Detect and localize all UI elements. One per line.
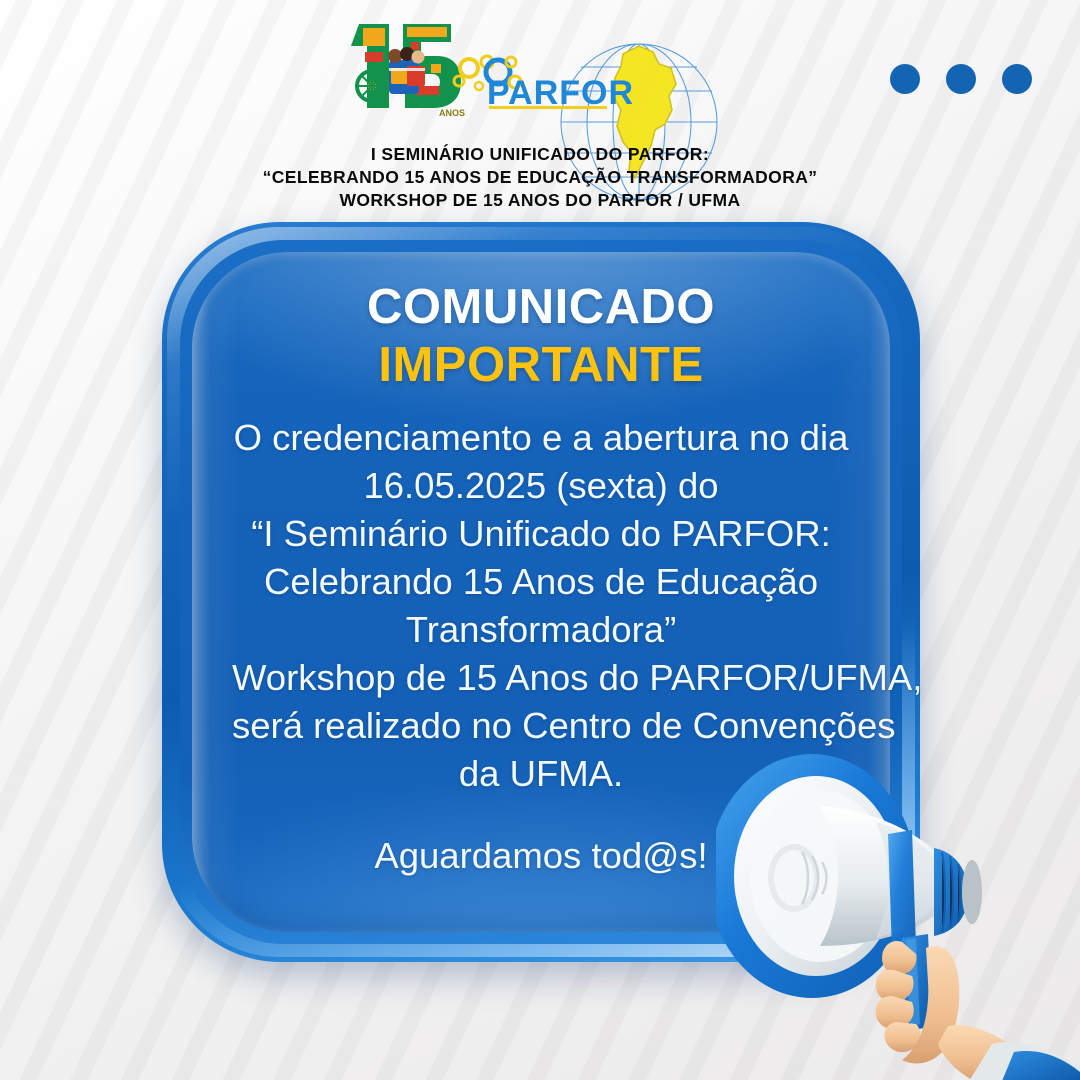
megaphone-collar bbox=[934, 848, 968, 936]
seminar-title-line-1: I SEMINÁRIO UNIFICADO DO PARFOR: bbox=[0, 143, 1080, 166]
anniversary-15-logo-icon: ANOS bbox=[345, 12, 465, 122]
body-line: 16.05.2025 (sexta) do bbox=[232, 462, 850, 510]
announcement-card: COMUNICADO IMPORTANTE O credenciamento e… bbox=[162, 222, 920, 962]
megaphone-back-cap bbox=[962, 860, 982, 924]
parfor-wordmark-icon: PARFOR bbox=[451, 54, 651, 112]
body-line: O credenciamento e a abertura no dia bbox=[232, 414, 850, 462]
seminar-title-line-3: WORKSHOP DE 15 ANOS DO PARFOR / UFMA bbox=[0, 189, 1080, 212]
announcement-subtitle: IMPORTANTE bbox=[232, 336, 850, 394]
announcement-body: O credenciamento e a abertura no dia 16.… bbox=[232, 414, 850, 798]
card-content: COMUNICADO IMPORTANTE O credenciamento e… bbox=[192, 252, 890, 932]
announcement-title: COMUNICADO bbox=[232, 278, 850, 336]
body-line: Transformadora” bbox=[232, 606, 850, 654]
body-line: Workshop de 15 Anos do PARFOR/UFMA, bbox=[232, 654, 850, 702]
megaphone-collar-ribs bbox=[942, 852, 960, 932]
shirt-cuff bbox=[966, 1042, 1080, 1080]
seminar-title-block: I SEMINÁRIO UNIFICADO DO PARFOR: “CELEBR… bbox=[0, 143, 1080, 212]
body-line: “I Seminário Unificado do PARFOR: bbox=[232, 510, 850, 558]
poster-header: ANOS PARFOR I SEMINÁRIO UNIFICADO bbox=[0, 0, 1080, 222]
body-line: Celebrando 15 Anos de Educação bbox=[232, 558, 850, 606]
body-line: será realizado no Centro de Convenções bbox=[232, 702, 850, 750]
poster-canvas: ANOS PARFOR I SEMINÁRIO UNIFICADO bbox=[0, 0, 1080, 1080]
announcement-closing: Aguardamos tod@s! bbox=[232, 832, 850, 880]
seminar-title-line-2: “CELEBRANDO 15 ANOS DE EDUCAÇÃO TRANSFOR… bbox=[0, 166, 1080, 189]
sleeve bbox=[1000, 1051, 1080, 1080]
parfor-logo-lockup: ANOS PARFOR bbox=[345, 8, 745, 128]
body-line: da UFMA. bbox=[232, 750, 850, 798]
